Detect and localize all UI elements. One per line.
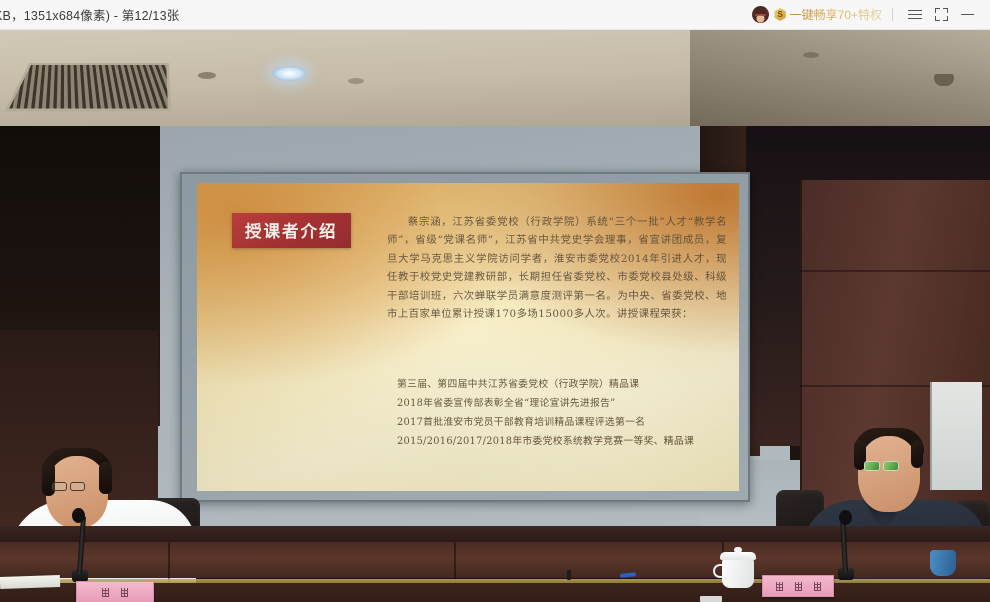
person-right-glasses xyxy=(864,461,899,471)
photo-canvas[interactable]: 授课者介绍 蔡宗涵，江苏省委党校（行政学院）系统“三个一批”人才“教学名师”，省… xyxy=(0,30,990,602)
minimize-icon xyxy=(961,14,974,15)
lens-icon xyxy=(864,461,880,471)
slide-award-item: 2018年省委宣传部表彰全省“理论宣讲先进报告” xyxy=(397,394,727,413)
person-left-glasses xyxy=(52,482,85,491)
ceiling-light xyxy=(348,78,364,84)
blue-cup xyxy=(930,550,956,576)
microphone-head xyxy=(839,510,852,525)
user-avatar[interactable] xyxy=(752,6,769,23)
microphone-head xyxy=(72,508,85,523)
desk-object xyxy=(567,570,571,580)
nameplate-character xyxy=(121,588,128,597)
presentation-slide: 授课者介绍 蔡宗涵，江苏省委党校（行政学院）系统“三个一批”人才“教学名师”，省… xyxy=(197,183,739,491)
hamburger-icon xyxy=(908,10,922,20)
lens-icon xyxy=(883,461,899,471)
fullscreen-button[interactable] xyxy=(928,2,954,28)
nameplate-character xyxy=(102,588,109,597)
window-title: KB，1351x684像素) - 第12/13张 xyxy=(0,5,179,24)
titlebar-controls: S 一键畅享70+特权 xyxy=(752,0,990,30)
slide-award-item: 2015/2016/2017/2018年市委党校系统教学竞赛一等奖、精品课 xyxy=(397,432,727,451)
nameplate-right xyxy=(762,575,834,597)
toolbar-divider xyxy=(892,8,893,21)
image-viewer-window: KB，1351x684像素) - 第12/13张 S 一键畅享70+特权 xyxy=(0,0,990,602)
slide-award-item: 第三届、第四届中共江苏省委党校（行政学院）精品课 xyxy=(397,375,727,394)
ceiling-speaker xyxy=(934,74,954,86)
vip-promo[interactable]: S 一键畅享70+特权 xyxy=(774,6,882,23)
ceiling-light xyxy=(803,52,819,58)
nameplate-character xyxy=(795,582,802,591)
nameplate-left xyxy=(76,581,154,602)
vip-promo-label: 一键畅享70+特权 xyxy=(790,6,882,23)
person-left-hair-side xyxy=(99,462,112,494)
slide-award-item: 2017首批淮安市党员干部教育培训精品课程评选第一名 xyxy=(397,413,727,432)
hvac-vent xyxy=(4,63,171,111)
paper-document xyxy=(0,575,60,589)
minimize-button[interactable] xyxy=(954,2,980,28)
slide-paragraph: 蔡宗涵，江苏省委党校（行政学院）系统“三个一批”人才“教学名师”，省级“党课名师… xyxy=(387,213,727,323)
expand-icon xyxy=(935,8,948,21)
table-seam xyxy=(168,542,170,582)
teacup-knob xyxy=(734,547,742,553)
slide-title-banner: 授课者介绍 xyxy=(232,213,351,248)
projection-screen: 授课者介绍 蔡宗涵，江苏省委党校（行政学院）系统“三个一批”人才“教学名师”，省… xyxy=(180,172,750,502)
ceiling-light-lit xyxy=(272,66,307,81)
lens-icon xyxy=(52,482,67,491)
teacup xyxy=(722,558,754,588)
nameplate-character xyxy=(776,582,783,591)
slide-paragraph-text: 蔡宗涵，江苏省委党校（行政学院）系统“三个一批”人才“教学名师”，省级“党课名师… xyxy=(387,213,727,323)
nameplate-character xyxy=(814,582,821,591)
lens-icon xyxy=(70,482,85,491)
titlebar: KB，1351x684像素) - 第12/13张 S 一键畅享70+特权 xyxy=(0,0,990,30)
panel-seam xyxy=(800,270,990,272)
desk-label xyxy=(700,596,722,602)
svip-badge-icon: S xyxy=(774,8,787,21)
slide-awards-list: 第三届、第四届中共江苏省委党校（行政学院）精品课 2018年省委宣传部表彰全省“… xyxy=(397,375,727,451)
person-right-hair-side xyxy=(911,440,923,468)
ceiling-light xyxy=(198,72,216,79)
teacup-lid xyxy=(720,552,756,560)
table-seam xyxy=(454,542,456,582)
menu-button[interactable] xyxy=(902,2,928,28)
